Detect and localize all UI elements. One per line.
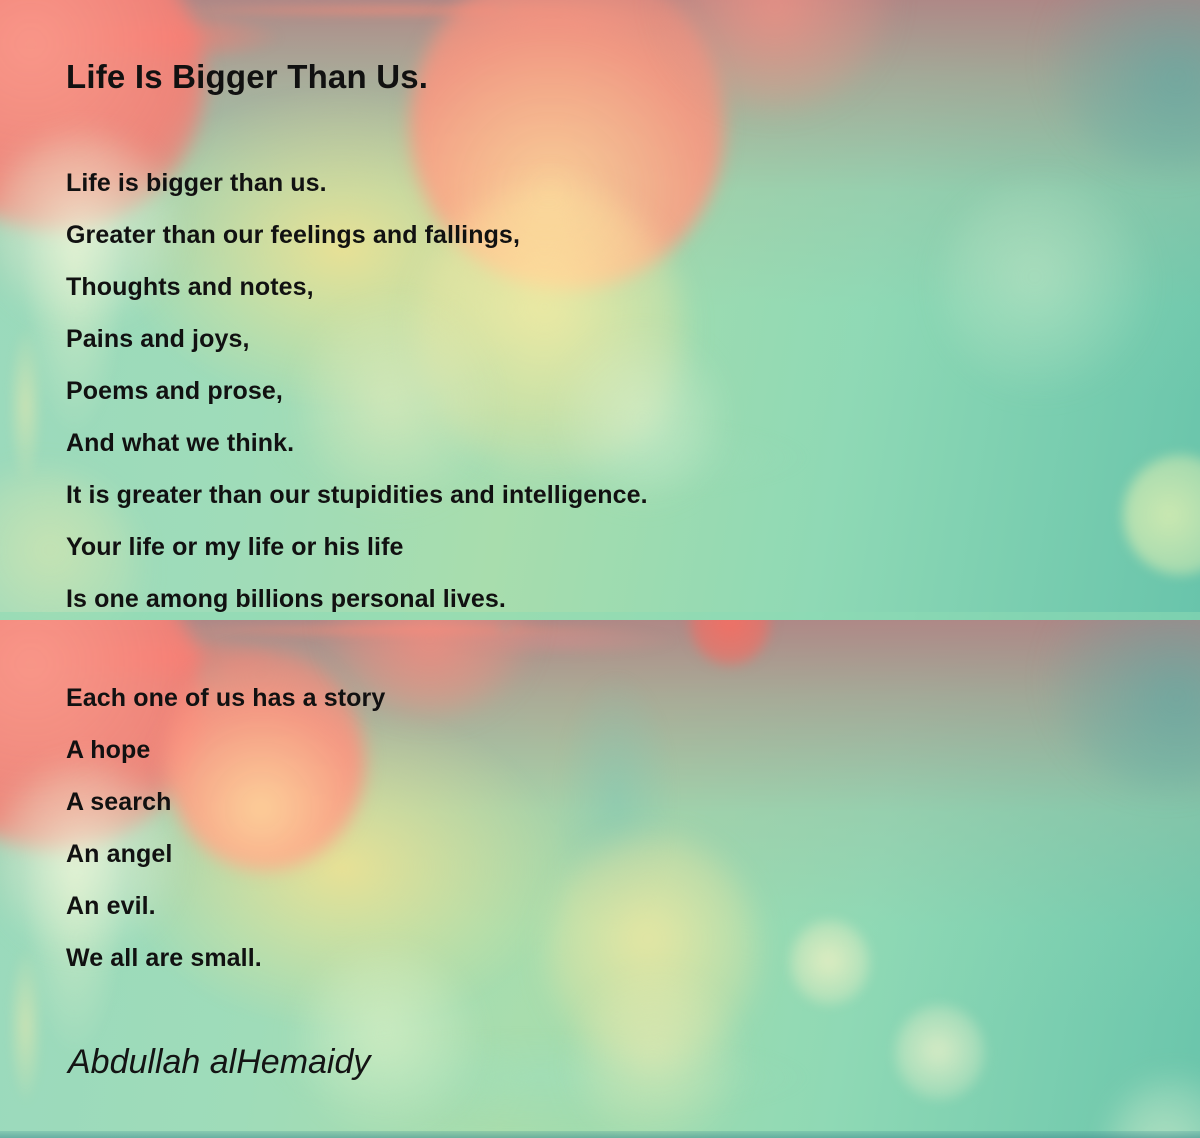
- poem-line: Greater than our feelings and fallings,: [66, 209, 648, 261]
- poem-line: We all are small.: [66, 932, 385, 984]
- poem-line: Thoughts and notes,: [66, 261, 648, 313]
- poem-line: Your life or my life or his life: [66, 521, 648, 573]
- poem-stanza-1: Life is bigger than us. Greater than our…: [66, 157, 648, 625]
- poem-line: A hope: [66, 724, 385, 776]
- poem-line: Pains and joys,: [66, 313, 648, 365]
- poem-line: Poems and prose,: [66, 365, 648, 417]
- poem-stanza-2: Each one of us has a story A hope A sear…: [66, 672, 385, 984]
- poem-line: An evil.: [66, 880, 385, 932]
- poem-line: And what we think.: [66, 417, 648, 469]
- poem-line: Is one among billions personal lives.: [66, 573, 648, 625]
- poem-image-card: Life Is Bigger Than Us. Life is bigger t…: [0, 0, 1200, 1138]
- poem-line: A search: [66, 776, 385, 828]
- poem-line: An angel: [66, 828, 385, 880]
- poem-title: Life Is Bigger Than Us.: [66, 57, 428, 97]
- poem-content: Life Is Bigger Than Us. Life is bigger t…: [0, 0, 1200, 1138]
- poem-author: Abdullah alHemaidy: [68, 1041, 370, 1083]
- poem-line: Life is bigger than us.: [66, 157, 648, 209]
- poem-line: Each one of us has a story: [66, 672, 385, 724]
- poem-line: It is greater than our stupidities and i…: [66, 469, 648, 521]
